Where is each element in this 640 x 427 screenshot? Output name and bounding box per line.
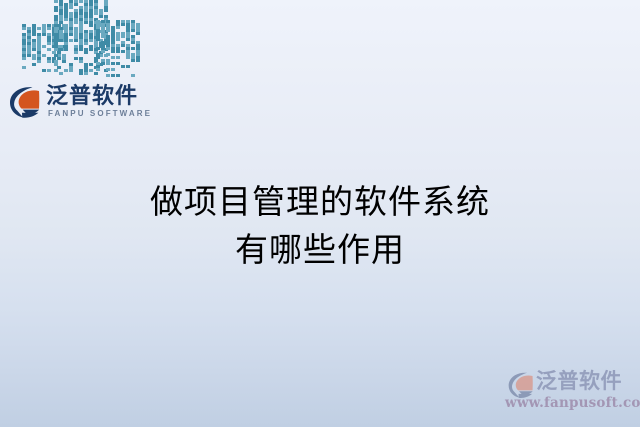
fanpu-swoosh-logo-icon — [8, 85, 42, 119]
page-title-line-2: 有哪些作用 — [0, 226, 640, 274]
brand-logo-english-name: FANPU SOFTWARE — [48, 109, 152, 118]
page-title-line-1: 做项目管理的软件系统 — [0, 178, 640, 226]
watermark-chinese-name: 泛普软件 — [536, 369, 622, 394]
watermark-url: www.fanpusoft.com — [505, 395, 640, 411]
watermark: 泛普软件 www.fanpusoft.com — [503, 368, 639, 416]
brand-logo: 泛普软件 FANPU SOFTWARE — [8, 84, 148, 130]
pixel-city-skyline-icon — [14, 0, 132, 78]
slide-canvas: 泛普软件 FANPU SOFTWARE 做项目管理的软件系统 有哪些作用 泛普软… — [0, 0, 640, 427]
page-title: 做项目管理的软件系统 有哪些作用 — [0, 178, 640, 274]
brand-logo-chinese-name: 泛普软件 — [46, 84, 138, 110]
